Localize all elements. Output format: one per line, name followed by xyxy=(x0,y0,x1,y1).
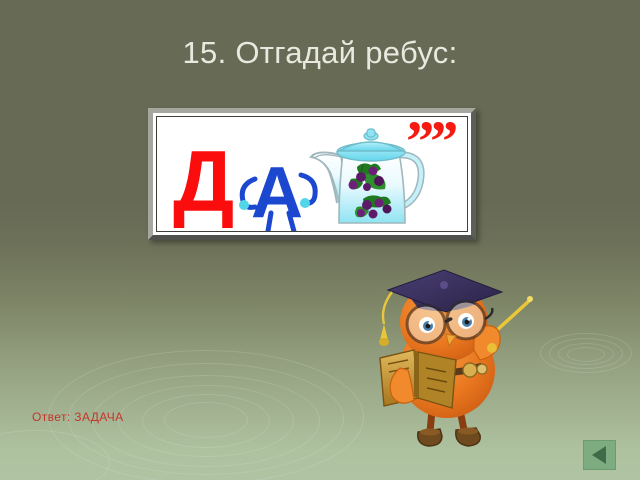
rebus-letter-d: Д xyxy=(173,139,234,225)
page-title: 15. Отгадай ребус: xyxy=(0,34,640,72)
ripple-ring xyxy=(549,338,623,369)
owl-professor-mascot xyxy=(352,262,538,458)
ripple-ring xyxy=(540,333,632,373)
back-navigation-button[interactable]: ◀ xyxy=(583,440,616,470)
slide-root: 15. Отгадай ребус: Д xyxy=(0,0,640,480)
ripple-ring xyxy=(567,347,605,362)
ripple-ring xyxy=(0,430,110,480)
ripple-ring xyxy=(558,343,614,365)
ripple-ring xyxy=(164,402,248,438)
ripple-ring xyxy=(142,394,270,448)
rebus-image-frame: Д А xyxy=(148,108,476,240)
ripple-ring xyxy=(92,375,320,467)
back-triangle-icon xyxy=(584,441,615,469)
ripple-ring xyxy=(118,385,294,457)
answer-text: Ответ: ЗАДАЧА xyxy=(32,409,124,425)
svg-text:А: А xyxy=(251,153,303,232)
background-ripples xyxy=(0,0,640,480)
rebus-apostrophes: ’’’’ xyxy=(405,116,457,171)
rebus-image-canvas: Д А xyxy=(156,116,468,232)
